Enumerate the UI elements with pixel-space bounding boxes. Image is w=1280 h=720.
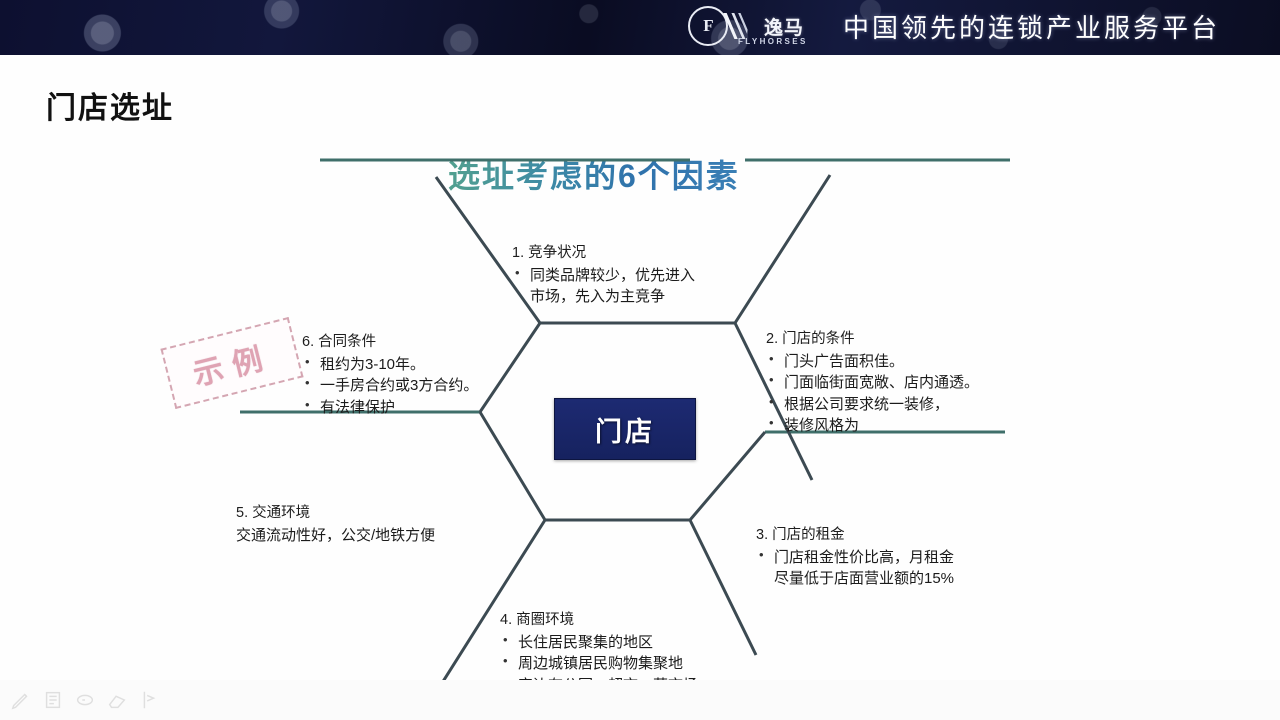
branch-6-contract: 6. 合同条件 租约为3-10年。 一手房合约或3方合约。 有法律保护	[302, 330, 478, 418]
branch-3-list: 门店租金性价比高，月租金 尽量低于店面营业额的15%	[756, 547, 954, 590]
top-banner: F 逸马 FLYHORSES 中国领先的连锁产业服务平台	[0, 0, 1280, 55]
pen-icon[interactable]	[6, 685, 36, 715]
list-item: 有法律保护	[302, 397, 478, 418]
list-item: 门头广告面积佳。	[766, 351, 979, 372]
list-item: 长住居民聚集的地区	[500, 632, 713, 653]
branch-2-list: 门头广告面积佳。 门面临街面宽敞、店内通透。 根据公司要求统一装修， 装修风格为	[766, 351, 979, 436]
list-item: 门面临街面宽敞、店内通透。	[766, 372, 979, 393]
annotation-toolbar	[0, 680, 1280, 720]
branch-2-store-conditions: 2. 门店的条件 门头广告面积佳。 门面临街面宽敞、店内通透。 根据公司要求统一…	[766, 327, 979, 436]
branch-6-list: 租约为3-10年。 一手房合约或3方合约。 有法律保护	[302, 354, 478, 418]
branch-1-heading: 1. 竞争状况	[512, 241, 695, 262]
list-item: 同类品牌较少，优先进入 市场，先入为主竞争	[512, 265, 695, 308]
branch-5-transport: 5. 交通环境 交通流动性好，公交/地铁方便	[236, 501, 435, 547]
logo-swoosh-icon	[713, 13, 750, 39]
branch-1-list: 同类品牌较少，优先进入 市场，先入为主竞争	[512, 265, 695, 308]
branch-3-rent: 3. 门店的租金 门店租金性价比高，月租金 尽量低于店面营业额的15%	[756, 523, 954, 590]
note-icon[interactable]	[38, 685, 68, 715]
banner-slogan: 中国领先的连锁产业服务平台	[843, 8, 1220, 45]
cursor-icon[interactable]	[134, 685, 164, 715]
branch-1-competition: 1. 竞争状况 同类品牌较少，优先进入 市场，先入为主竞争	[512, 241, 695, 308]
list-item: 门店租金性价比高，月租金 尽量低于店面营业额的15%	[756, 547, 954, 590]
logo-mark-letter: F	[703, 16, 712, 36]
list-item: 装修风格为	[766, 415, 979, 436]
center-node-label: 门店	[595, 410, 655, 449]
brand-name-cn: 逸马	[764, 13, 804, 40]
branch-3-heading: 3. 门店的租金	[756, 523, 954, 544]
slide-stage: F 逸马 FLYHORSES 中国领先的连锁产业服务平台 门店选址 选址考虑的6…	[0, 0, 1280, 720]
center-node: 门店	[554, 398, 696, 460]
example-stamp-label: 示例	[188, 332, 276, 394]
eraser-icon[interactable]	[102, 685, 132, 715]
list-item: 周边城镇居民购物集聚地	[500, 653, 713, 674]
branch-4-heading: 4. 商圈环境	[500, 608, 713, 629]
branch-5-heading: 5. 交通环境	[236, 501, 435, 522]
highlighter-icon[interactable]	[70, 685, 100, 715]
slide-body: 门店选址 选址考虑的6个因素	[0, 55, 1280, 680]
list-item: 租约为3-10年。	[302, 354, 478, 375]
brand-name-en: FLYHORSES	[738, 37, 808, 46]
brand-logo: F 逸马 FLYHORSES	[688, 6, 804, 46]
branch-6-heading: 6. 合同条件	[302, 330, 478, 351]
branch-2-heading: 2. 门店的条件	[766, 327, 979, 348]
list-item: 一手房合约或3方合约。	[302, 375, 478, 396]
list-item: 根据公司要求统一装修，	[766, 394, 979, 415]
branch-5-text: 交通流动性好，公交/地铁方便	[236, 525, 435, 547]
